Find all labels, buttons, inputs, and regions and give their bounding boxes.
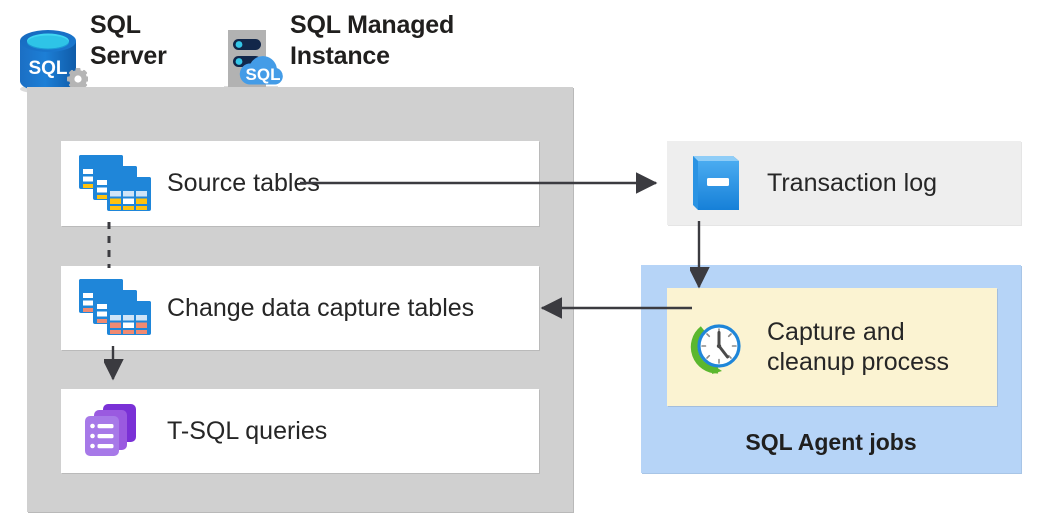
svg-text:SQL: SQL [28, 58, 67, 79]
legend-sql-managed-instance-label: SQL Managed Instance [290, 10, 454, 71]
connector-source-to-transaction-log [300, 150, 672, 216]
capture-and-cleanup-process-label: Capture and cleanup process [767, 317, 949, 378]
transaction-log-label: Transaction log [767, 168, 937, 199]
transaction-log-box[interactable]: Transaction log [667, 141, 1021, 225]
query-list-icon [77, 400, 153, 462]
source-tables-label: Source tables [167, 168, 320, 199]
legend-sql-server: SQL SQL Server [12, 8, 167, 71]
diagram-canvas: SQL SQL Server [0, 0, 1044, 527]
legend-sql-server-label: SQL Server [90, 10, 167, 71]
svg-text:SQL: SQL [246, 65, 281, 84]
tables-icon-orange [77, 277, 153, 339]
sql-server-database-icon: SQL [12, 26, 88, 96]
sql-managed-instance-icon: SQL [218, 26, 288, 96]
connector-capture-to-cdc [532, 296, 692, 320]
tsql-queries-box[interactable]: T-SQL queries [61, 389, 539, 473]
clock-refresh-icon [687, 319, 749, 375]
change-data-capture-tables-box[interactable]: Change data capture tables [61, 266, 539, 350]
connector-cdc-to-tsql [104, 346, 124, 390]
tables-icon-yellow [77, 153, 153, 215]
legend-sql-managed-instance: SQL SQL Managed Instance [218, 8, 454, 71]
connector-transaction-log-to-capture [690, 221, 710, 299]
sql-agent-jobs-label: SQL Agent jobs [641, 429, 1021, 456]
connector-source-to-cdc-dashed [104, 222, 114, 268]
change-data-capture-tables-label: Change data capture tables [167, 293, 474, 324]
book-icon [685, 152, 747, 214]
capture-and-cleanup-process-box[interactable]: Capture and cleanup process [667, 288, 997, 406]
tsql-queries-label: T-SQL queries [167, 416, 327, 447]
